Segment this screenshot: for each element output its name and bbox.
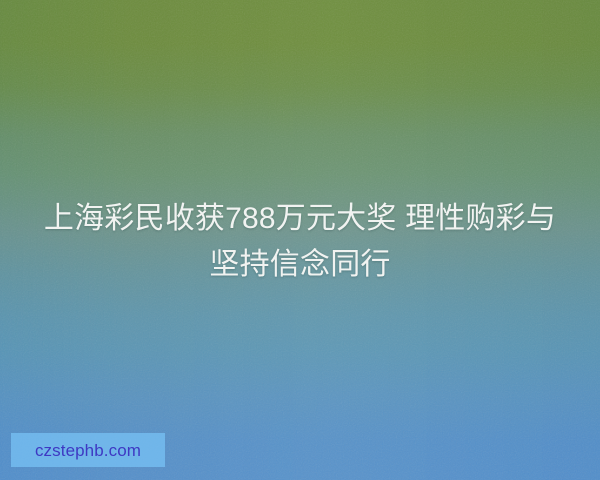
watermark-badge: czstephb.com: [11, 433, 165, 467]
article-title-card: 上海彩民收获788万元大奖 理性购彩与 坚持信念同行 czstephb.com: [0, 0, 600, 480]
page-title: 上海彩民收获788万元大奖 理性购彩与 坚持信念同行: [0, 196, 600, 288]
watermark-label: czstephb.com: [35, 442, 141, 459]
